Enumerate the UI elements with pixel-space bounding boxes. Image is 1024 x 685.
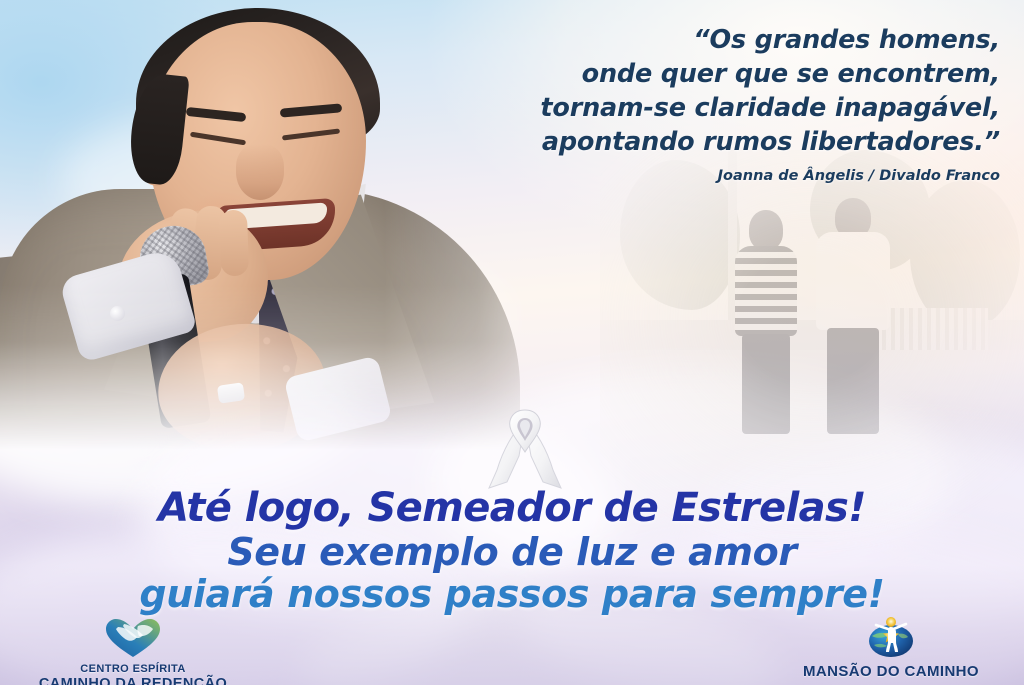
- walking-person-white-shirt: [812, 198, 894, 434]
- logo-mansao-do-caminho: MANSÃO DO CAMINHO: [766, 612, 1016, 680]
- finger: [219, 210, 249, 277]
- quote-line-4: apontando rumos libertadores.”: [440, 126, 1000, 160]
- logo-right-line-1: MANSÃO DO CAMINHO: [766, 663, 1016, 680]
- globe-figure-star-icon: [766, 612, 1016, 663]
- person-legs: [742, 334, 790, 434]
- person-torso: [816, 232, 890, 330]
- quote-text: “Os grandes homens, onde quer que se enc…: [440, 24, 1000, 160]
- white-mourning-ribbon-icon: [487, 408, 563, 490]
- quote-line-3: tornam-se claridade inapagável,: [440, 92, 1000, 126]
- message-line-1: Até logo, Semeador de Estrelas!: [0, 486, 1024, 531]
- logo-centro-espirita-caminho-da-redencao: CENTRO ESPÍRITA CAMINHO DA REDENÇÃO: [8, 618, 258, 685]
- message-line-2: Seu exemplo de luz e amor: [0, 531, 1024, 574]
- person-legs: [827, 328, 879, 434]
- memorial-message: Até logo, Semeador de Estrelas! Seu exem…: [0, 486, 1024, 616]
- cuff-button: [110, 306, 125, 321]
- memorial-poster: “Os grandes homens, onde quer que se enc…: [0, 0, 1024, 685]
- quote-line-2: onde quer que se encontrem,: [440, 58, 1000, 92]
- nose: [236, 144, 284, 200]
- person-torso: [735, 246, 797, 336]
- logo-left-line-2: CAMINHO DA REDENÇÃO: [8, 676, 258, 685]
- quote-attribution: Joanna de Ângelis / Divaldo Franco: [440, 168, 1000, 184]
- walking-person-striped-shirt: [730, 210, 802, 430]
- logo-left-line-1: CENTRO ESPÍRITA: [8, 663, 258, 676]
- quote-line-1: “Os grandes homens,: [440, 24, 1000, 58]
- message-line-3: guiará nossos passos para sempre!: [0, 573, 1024, 616]
- heart-hands-icon: [8, 618, 258, 663]
- finger-ring: [217, 382, 245, 403]
- person-head: [749, 210, 783, 250]
